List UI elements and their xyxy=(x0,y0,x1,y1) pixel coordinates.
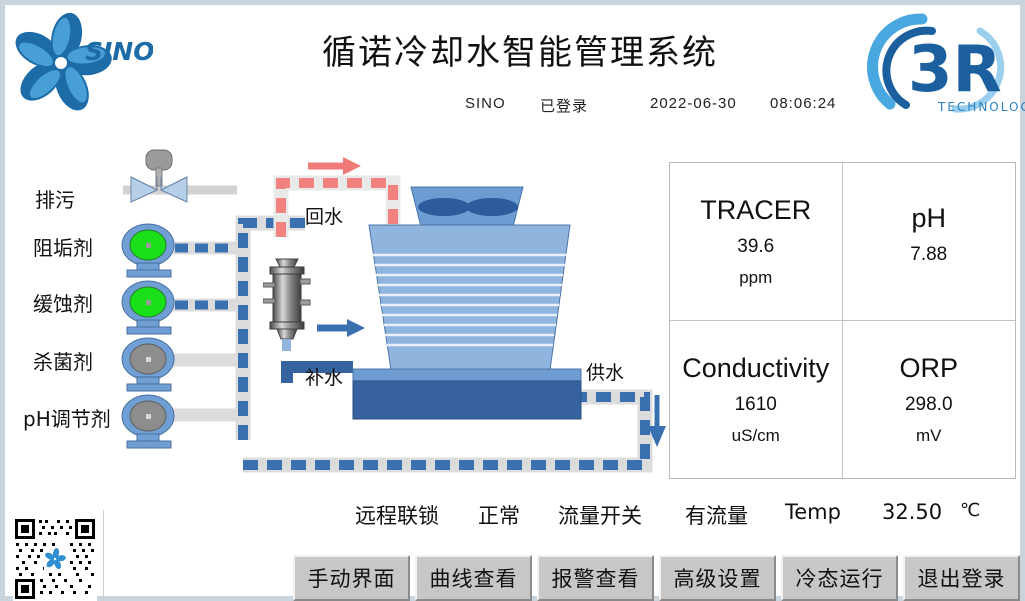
cold-run-button[interactable]: 冷态运行 xyxy=(781,555,898,601)
3r-wordmark: 3R xyxy=(908,33,1002,107)
readout-name: Conductivity xyxy=(682,355,829,382)
dosing-pump-corrosion-inhibitor[interactable] xyxy=(118,280,182,336)
supply-flow-arrow xyxy=(648,395,666,447)
readout-ph: pH 7.88 xyxy=(843,163,1016,321)
blowdown-valve-icon[interactable] xyxy=(123,144,195,206)
sensor-chamber-icon[interactable] xyxy=(263,253,311,351)
manual-interface-button[interactable]: 手动界面 xyxy=(293,555,410,601)
readout-conductivity: Conductivity 1610 uS/cm xyxy=(670,321,843,479)
login-user: SINO xyxy=(465,95,506,112)
readout-value: 298.0 xyxy=(905,395,953,414)
login-info-row: SINO 已登录 2022-06-30 08:06:24 xyxy=(260,95,900,119)
sino-wordmark: SINO xyxy=(85,37,153,66)
page-title: 循诺冷却水智能管理系统 xyxy=(260,25,780,74)
qr-divider xyxy=(103,510,104,601)
sino-logo: SINO xyxy=(13,13,153,113)
flow-switch-label: 流量开关 xyxy=(558,500,642,530)
trend-curve-button[interactable]: 曲线查看 xyxy=(415,555,532,601)
alarm-view-button[interactable]: 报警查看 xyxy=(537,555,654,601)
login-state: 已登录 xyxy=(540,95,588,116)
label-return-water: 回水 xyxy=(305,202,343,229)
fan-blade-left xyxy=(418,198,470,216)
temperature-unit: ℃ xyxy=(960,500,980,521)
readout-orp: ORP 298.0 mV xyxy=(843,321,1016,479)
system-date: 2022-06-30 xyxy=(650,95,737,112)
system-time: 08:06:24 xyxy=(770,95,836,112)
label-blowdown: 排污 xyxy=(35,184,75,213)
readout-value: 39.6 xyxy=(737,237,774,256)
label-ph-adjuster: pH调节剂 xyxy=(23,403,111,432)
readout-unit: ppm xyxy=(739,269,772,286)
tower-basin xyxy=(353,381,581,419)
dosing-pump-biocide[interactable] xyxy=(118,337,182,393)
cooling-tower xyxy=(335,165,635,425)
readout-unit: uS/cm xyxy=(732,427,780,444)
label-corrosion-inhibitor: 缓蚀剂 xyxy=(33,288,93,317)
readout-panel: TRACER 39.6 ppm pH 7.88 Conductivity 161… xyxy=(669,162,1016,479)
3r-sub-wordmark: TECHNOLOGY xyxy=(937,100,1025,114)
qr-code xyxy=(13,517,97,601)
advanced-settings-button[interactable]: 高级设置 xyxy=(659,555,776,601)
readout-value: 7.88 xyxy=(910,245,947,264)
readout-tracer: TRACER 39.6 ppm xyxy=(670,163,843,321)
dosing-pump-scale-inhibitor[interactable] xyxy=(118,223,182,279)
remote-interlock-label: 远程联锁 xyxy=(355,500,439,530)
remote-interlock-value: 正常 xyxy=(478,500,520,530)
readout-name: TRACER xyxy=(700,197,811,224)
flow-switch-value: 有流量 xyxy=(685,500,748,530)
label-supply-water: 供水 xyxy=(586,358,624,385)
readout-name: ORP xyxy=(899,355,958,382)
scada-screen: SINO 3R TECHNOLOGY 循诺冷却水智能管理系统 SINO 已登录 … xyxy=(0,0,1025,601)
readout-unit: mV xyxy=(916,427,942,444)
readout-value: 1610 xyxy=(735,395,777,414)
label-biocide: 杀菌剂 xyxy=(33,346,93,375)
dosing-pump-ph-adjuster[interactable] xyxy=(118,394,182,450)
fan-blade-right xyxy=(466,198,518,216)
bottom-button-bar: 手动界面 曲线查看 报警查看 高级设置 冷态运行 退出登录 xyxy=(293,555,1020,601)
temperature-value: 32.50 xyxy=(882,500,942,524)
label-scale-inhibitor: 阻垢剂 xyxy=(33,232,93,261)
logout-button[interactable]: 退出登录 xyxy=(903,555,1020,601)
label-makeup-water: 补水 xyxy=(305,363,343,390)
temperature-label: Temp xyxy=(785,500,841,524)
readout-name: pH xyxy=(911,205,946,232)
status-bar: 远程联锁 正常 流量开关 有流量 Temp 32.50 ℃ xyxy=(355,500,1020,532)
tower-body xyxy=(369,225,570,370)
